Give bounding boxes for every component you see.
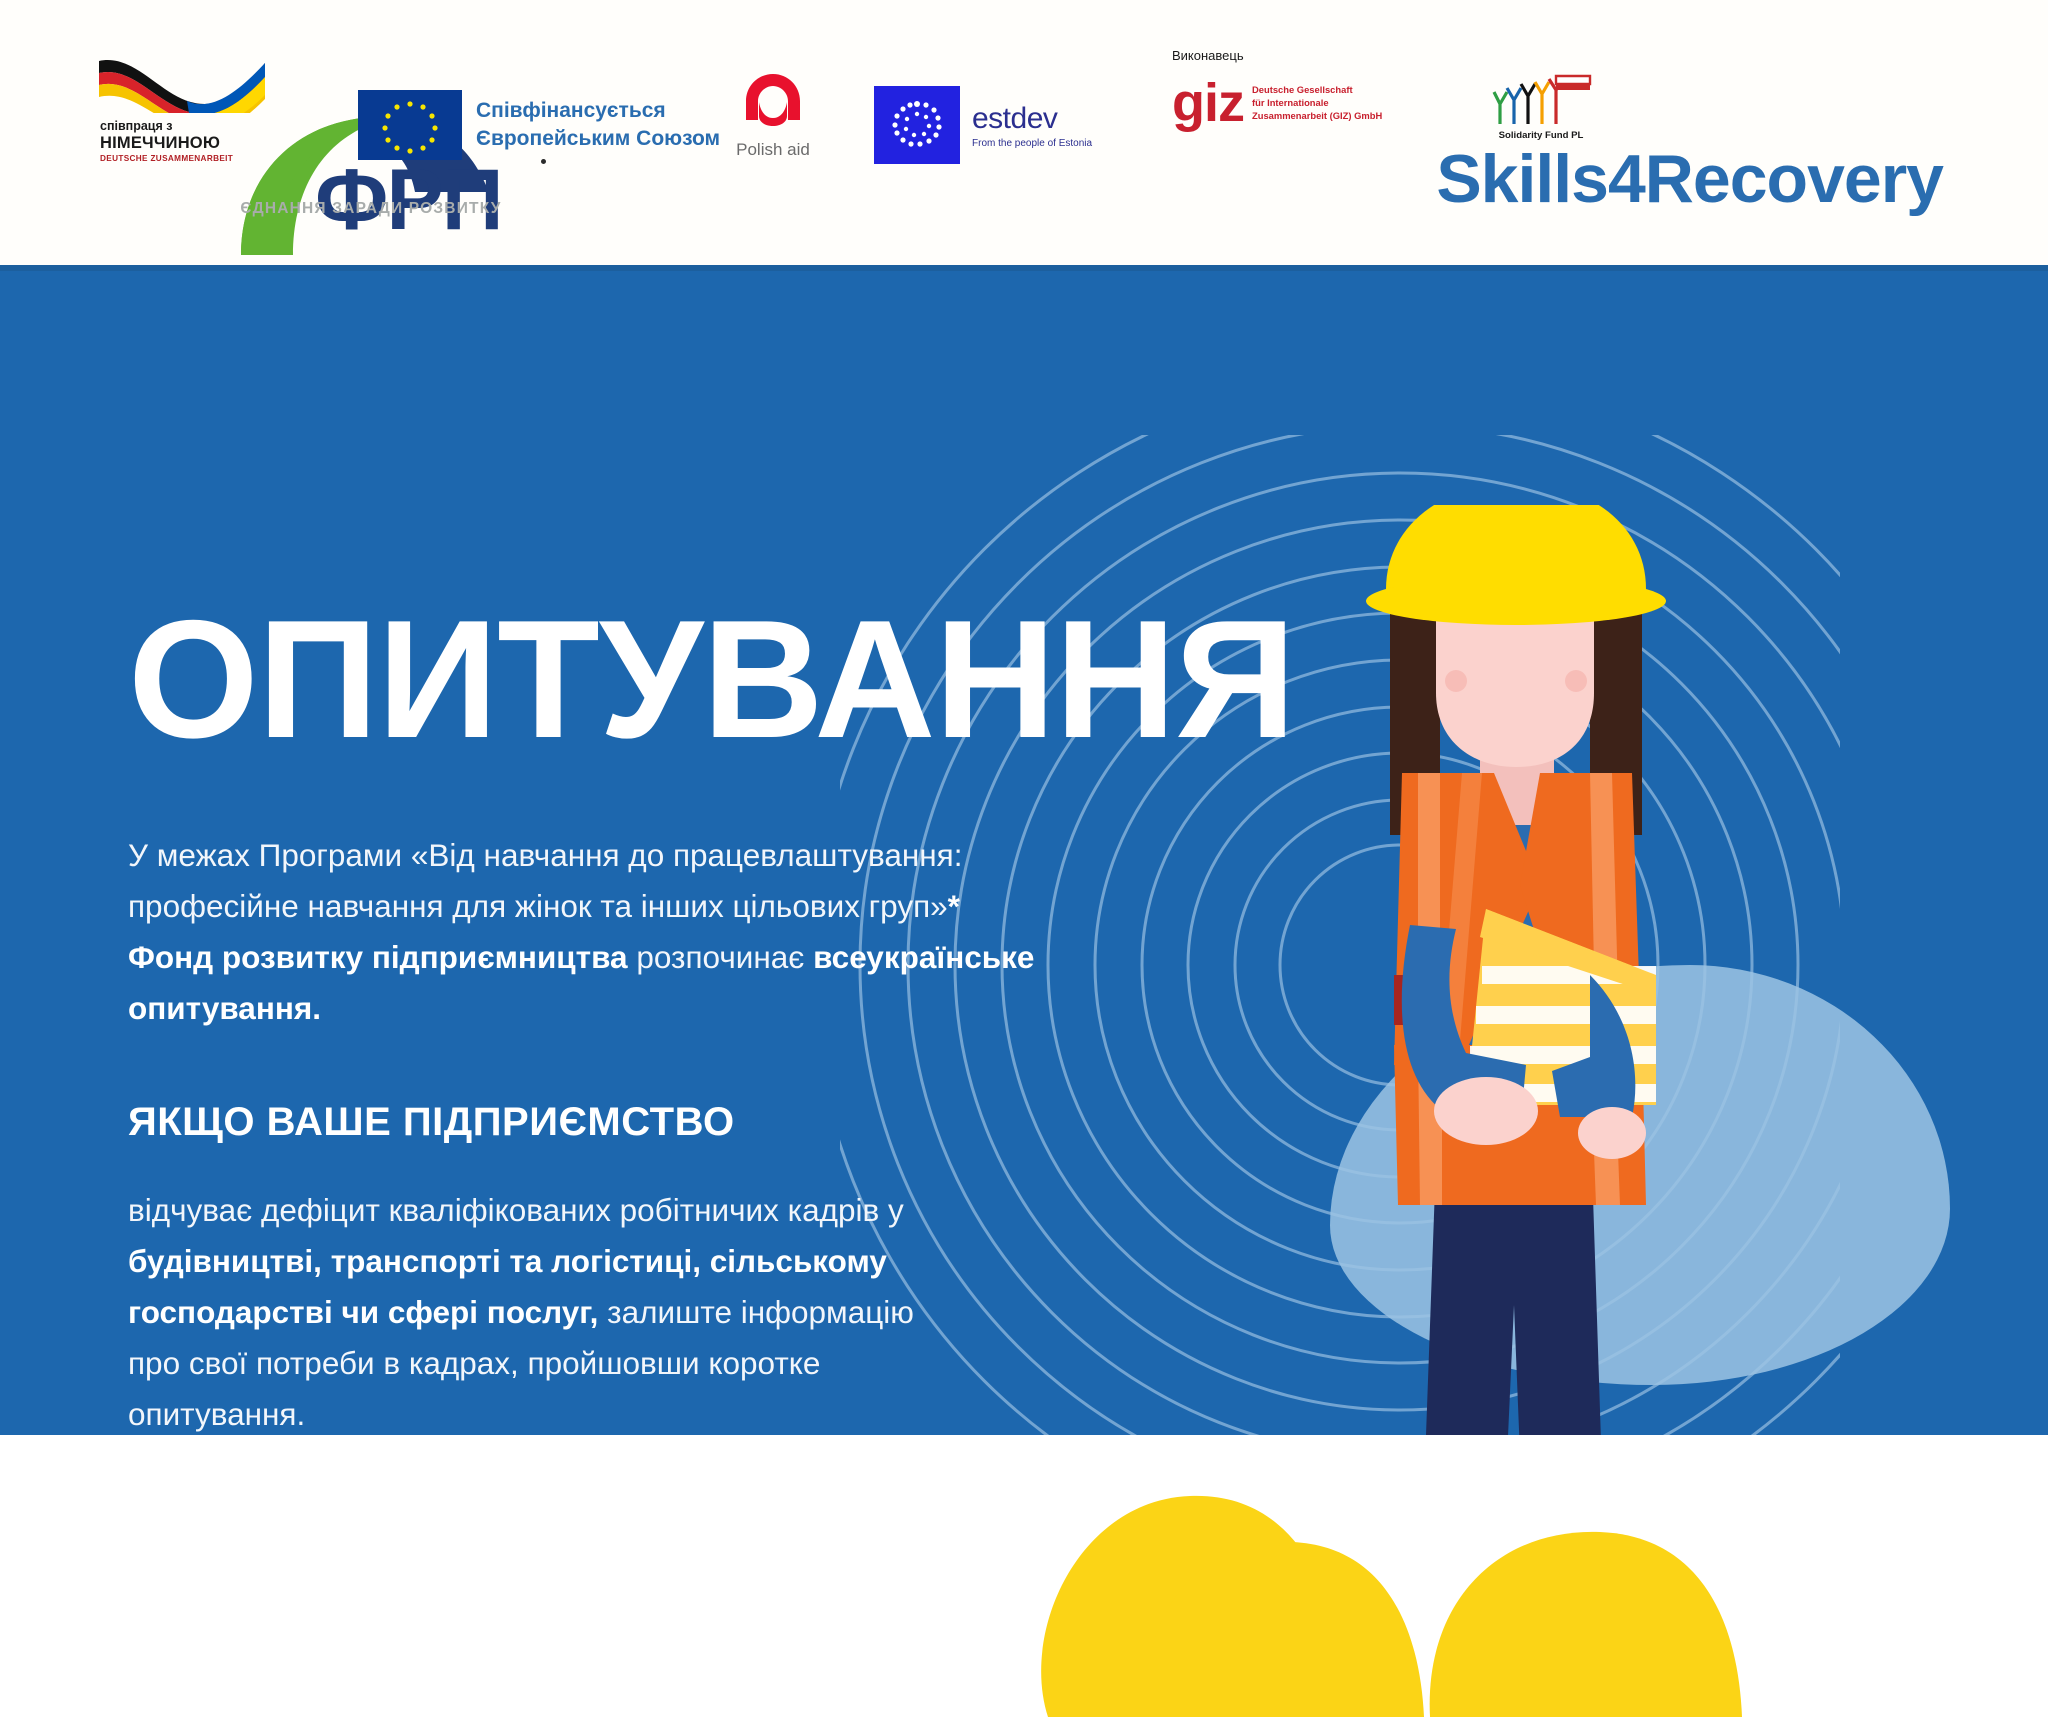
frp-tagline: ЄДНАННЯ ЗАРАДИ РОЗВИТКУ — [211, 200, 531, 218]
eu-label-line1: Співфінансується — [476, 97, 720, 125]
page-headline: ОПИТУВАННЯ — [128, 595, 1295, 763]
implementer-label: Виконавець — [1172, 48, 1244, 63]
estdev-flag-icon — [874, 86, 960, 164]
polish-aid-icon — [741, 70, 805, 134]
germany-label-line1: співпраця з — [100, 119, 265, 133]
section-subheading: ЯКЩО ВАШЕ ПІДПРИЄМСТВО — [128, 1100, 735, 1145]
solidarity-fund-label: Solidarity Fund PL — [1476, 130, 1606, 141]
panel-top-border — [0, 265, 2048, 271]
partner-logos-row: співпраця з НІМЕЧЧИНОЮ DEUTSCHE ZUSAMMEN… — [95, 55, 1606, 170]
eu-cofunding-logo: Співфінансується Європейським Союзом — [358, 80, 648, 170]
giz-mark-wrap: giz Deutsche Gesellschaft für Internatio… — [1172, 80, 1382, 126]
eu-label: Співфінансується Європейським Союзом — [476, 97, 720, 152]
solidarity-figures-icon — [1476, 70, 1606, 128]
german-cooperation-logo: співпраця з НІМЕЧЧИНОЮ DEUTSCHE ZUSAMMEN… — [95, 55, 270, 170]
estdev-name: estdev — [972, 102, 1092, 135]
intro-paragraph: У межах Програми «Від навчання до працев… — [128, 830, 1088, 1034]
giz-description-line3: Zusammenarbeit (GIZ) GmbH — [1252, 110, 1382, 123]
polish-aid-label: Polish aid — [718, 140, 828, 160]
estdev-tagline: From the people of Estonia — [972, 138, 1092, 149]
germany-ukraine-ribbon-icon — [95, 55, 270, 113]
estdev-label: estdev From the people of Estonia — [972, 102, 1092, 149]
eu-label-line2: Європейським Союзом — [476, 125, 720, 153]
polish-aid-logo: Polish aid — [718, 70, 828, 170]
germany-label-line2: НІМЕЧЧИНОЮ — [100, 134, 265, 153]
giz-description: Deutsche Gesellschaft für Internationale… — [1252, 84, 1382, 122]
description-paragraph: відчуває дефіцит кваліфікованих робітнич… — [128, 1185, 928, 1435]
solidarity-fund-logo: Solidarity Fund PL — [1476, 70, 1606, 170]
main-blue-panel: ОПИТУВАННЯ У межах Програми «Від навчанн… — [0, 265, 2048, 1435]
estdev-logo: estdev From the people of Estonia — [874, 80, 1124, 170]
giz-logo: Виконавець giz Deutsche Gesellschaft für… — [1172, 60, 1432, 170]
germany-label-line3: DEUTSCHE ZUSAMMENARBEIT — [100, 154, 265, 163]
giz-wordmark: giz — [1172, 80, 1244, 126]
giz-description-line2: für Internationale — [1252, 97, 1382, 110]
ground-yellow-shapes — [900, 1430, 2048, 1717]
eu-flag-icon — [358, 90, 462, 160]
giz-description-line1: Deutsche Gesellschaft — [1252, 84, 1382, 97]
